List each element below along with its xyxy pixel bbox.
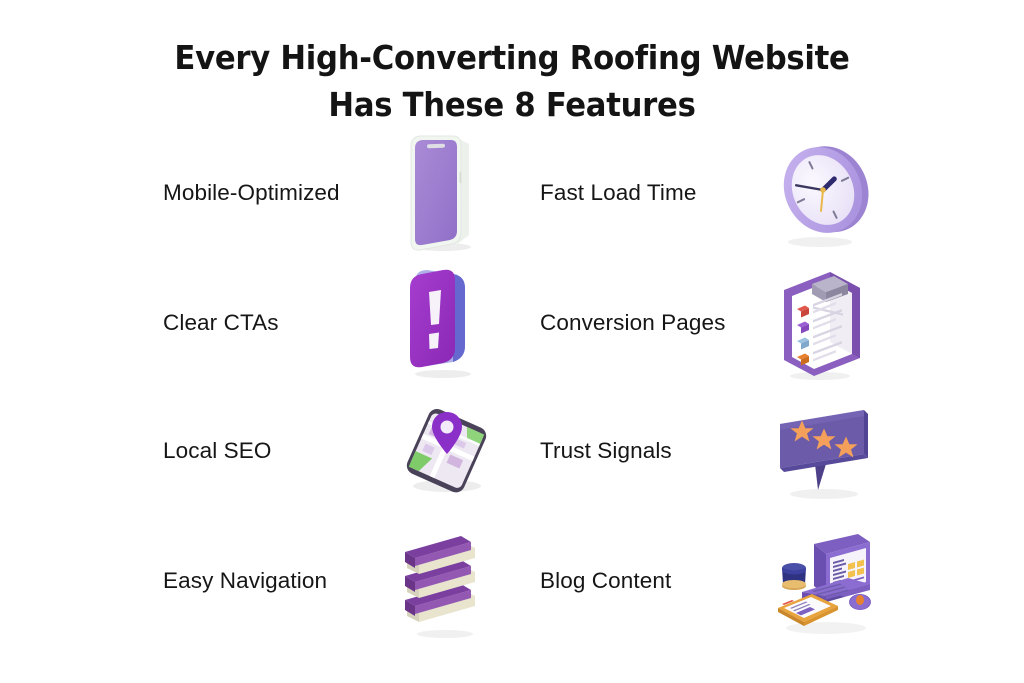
feature-label: Fast Load Time [540,180,768,206]
laptop-desk-icon [768,520,880,642]
feature-label: Local SEO [163,438,391,464]
feature-label: Blog Content [540,568,768,594]
feature-item-mobile-optimized: Mobile-Optimized [163,130,508,256]
page-title: Every High-Converting Roofing Website Ha… [0,34,1024,128]
title-line-2: Has These 8 Features [36,81,988,128]
feature-label: Conversion Pages [540,310,768,336]
feature-item-blog-content: Blog Content [540,518,880,644]
feature-item-fast-load-time: Fast Load Time [540,130,880,256]
feature-item-easy-navigation: Easy Navigation [163,518,508,644]
slide-canvas: Every High-Converting Roofing Website Ha… [0,0,1024,683]
feature-item-local-seo: Local SEO [163,388,508,514]
clipboard-checklist-icon [768,262,880,384]
feature-label: Clear CTAs [163,310,391,336]
feature-item-trust-signals: Trust Signals [540,388,880,514]
star-review-bubble-icon [768,390,880,512]
map-pin-phone-icon [391,390,503,512]
feature-label: Mobile-Optimized [163,180,391,206]
feature-label: Easy Navigation [163,568,391,594]
feature-item-conversion-pages: Conversion Pages [540,260,880,386]
computer-mouse [849,594,871,610]
clock-icon [768,132,880,254]
title-line-1: Every High-Converting Roofing Website [36,34,988,81]
hamburger-menu-icon [391,520,503,642]
feature-label: Trust Signals [540,438,768,464]
feature-item-clear-ctas: Clear CTAs [163,260,508,386]
exclamation-button-icon [391,262,503,384]
smartphone-icon [391,132,503,254]
coffee-cup [782,563,806,590]
feature-grid: Mobile-Optimized [0,130,1024,670]
